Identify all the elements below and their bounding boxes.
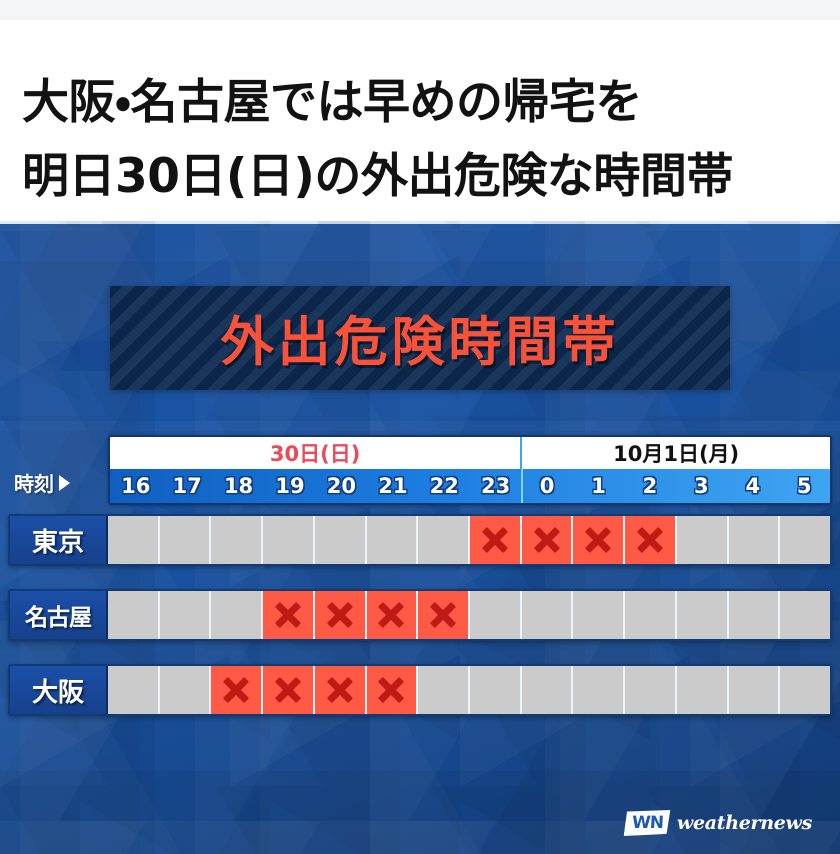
danger-hour-cell	[418, 591, 470, 639]
table-row: 名古屋	[8, 589, 832, 641]
date-header-cell: 10月1日(月)	[522, 437, 830, 469]
x-mark-icon	[637, 527, 663, 553]
safe-hour-cell	[315, 516, 367, 564]
timetable-header: 30日(日) 10月1日(月) 16 17 18 19 20 21 22 23 …	[108, 435, 832, 505]
x-mark-icon	[585, 527, 611, 553]
hour-header-cell: 4	[727, 469, 778, 503]
hour-header-cell: 0	[521, 469, 572, 503]
safe-hour-cell	[211, 516, 263, 564]
safe-hour-cell	[108, 591, 160, 639]
safe-hour-cell	[470, 666, 522, 714]
safe-hour-cell	[160, 516, 212, 564]
x-mark-icon	[275, 602, 301, 628]
safe-hour-cell	[625, 666, 677, 714]
hour-header-cell: 16	[110, 469, 161, 503]
x-mark-icon	[327, 677, 353, 703]
time-label-text: 時刻	[14, 468, 54, 497]
hour-header-row: 16 17 18 19 20 21 22 23 0 1 2 3 4 5	[110, 469, 830, 503]
x-mark-icon	[378, 677, 404, 703]
date-header-row: 30日(日) 10月1日(月)	[110, 437, 830, 469]
danger-hour-cell	[625, 516, 677, 564]
danger-hour-cell	[573, 516, 625, 564]
triangle-right-icon	[59, 475, 70, 491]
safe-hour-cell	[677, 591, 729, 639]
danger-hour-cell	[315, 591, 367, 639]
x-mark-icon	[275, 677, 301, 703]
safe-hour-cell	[108, 516, 160, 564]
safe-hour-cell	[160, 666, 212, 714]
safe-hour-cell	[573, 666, 625, 714]
headline-line-1: 大阪・名古屋では早めの帰宅を	[22, 66, 840, 140]
danger-hour-cell	[367, 666, 419, 714]
safe-hour-cell	[729, 591, 781, 639]
safe-hour-cell	[470, 591, 522, 639]
safe-hour-cell	[367, 516, 419, 564]
safe-hour-cell	[677, 516, 729, 564]
hour-header-cell: 5	[778, 469, 829, 503]
danger-hour-cell	[367, 591, 419, 639]
hour-header-cell: 23	[470, 469, 521, 503]
headline-line-2: 明日30日(日)の外出危険な時間帯	[22, 140, 840, 214]
safe-hour-cell	[677, 666, 729, 714]
danger-hour-cell	[315, 666, 367, 714]
danger-banner: 外出危険時間帯	[110, 286, 730, 390]
safe-hour-cell	[418, 516, 470, 564]
city-label-text: 名古屋	[25, 598, 91, 632]
table-row: 大阪	[8, 664, 832, 716]
x-mark-icon	[534, 527, 560, 553]
hour-header-cell: 19	[264, 469, 315, 503]
danger-hour-cell	[522, 516, 574, 564]
safe-hour-cell	[418, 666, 470, 714]
city-label-text: 東京	[32, 522, 84, 559]
date-header-cell: 30日(日)	[110, 437, 522, 469]
x-mark-icon	[378, 602, 404, 628]
city-label-nagoya: 名古屋	[10, 591, 108, 639]
banner-title: 外出危険時間帯	[221, 300, 620, 376]
hour-header-cell: 18	[213, 469, 264, 503]
hour-cells	[108, 591, 830, 639]
safe-hour-cell	[108, 666, 160, 714]
x-mark-icon	[327, 602, 353, 628]
city-label-text: 大阪	[32, 672, 84, 709]
safe-hour-cell	[780, 591, 830, 639]
hour-header-cell: 20	[316, 469, 367, 503]
city-label-osaka: 大阪	[10, 666, 108, 714]
hour-header-cell: 21	[367, 469, 418, 503]
safe-hour-cell	[522, 591, 574, 639]
wn-mark-icon: WN	[624, 810, 671, 836]
safe-hour-cell	[780, 516, 830, 564]
hour-header-cell: 3	[676, 469, 727, 503]
hour-cells	[108, 666, 830, 714]
logo-wordmark: weathernews	[677, 812, 812, 834]
x-mark-icon	[223, 677, 249, 703]
safe-hour-cell	[729, 666, 781, 714]
weathernews-logo: WN weathernews	[625, 810, 812, 836]
danger-hour-cell	[263, 591, 315, 639]
table-row: 東京	[8, 514, 832, 566]
x-mark-icon	[430, 602, 456, 628]
x-mark-icon	[482, 527, 508, 553]
safe-hour-cell	[573, 591, 625, 639]
headline-block: 大阪・名古屋では早めの帰宅を 明日30日(日)の外出危険な時間帯	[0, 20, 840, 221]
danger-hour-cell	[263, 666, 315, 714]
wn-mark-text: WN	[631, 813, 663, 833]
safe-hour-cell	[780, 666, 830, 714]
top-strip	[0, 0, 840, 20]
safe-hour-cell	[211, 591, 263, 639]
safe-hour-cell	[160, 591, 212, 639]
safe-hour-cell	[263, 516, 315, 564]
time-axis-label: 時刻	[14, 468, 70, 497]
hour-header-cell: 1	[573, 469, 624, 503]
hour-header-cell: 17	[161, 469, 212, 503]
safe-hour-cell	[729, 516, 781, 564]
danger-hour-cell	[211, 666, 263, 714]
hour-cells	[108, 516, 830, 564]
city-label-tokyo: 東京	[10, 516, 108, 564]
safe-hour-cell	[625, 591, 677, 639]
danger-hour-cell	[470, 516, 522, 564]
safe-hour-cell	[522, 666, 574, 714]
hour-header-cell: 22	[419, 469, 470, 503]
hour-header-cell: 2	[624, 469, 675, 503]
